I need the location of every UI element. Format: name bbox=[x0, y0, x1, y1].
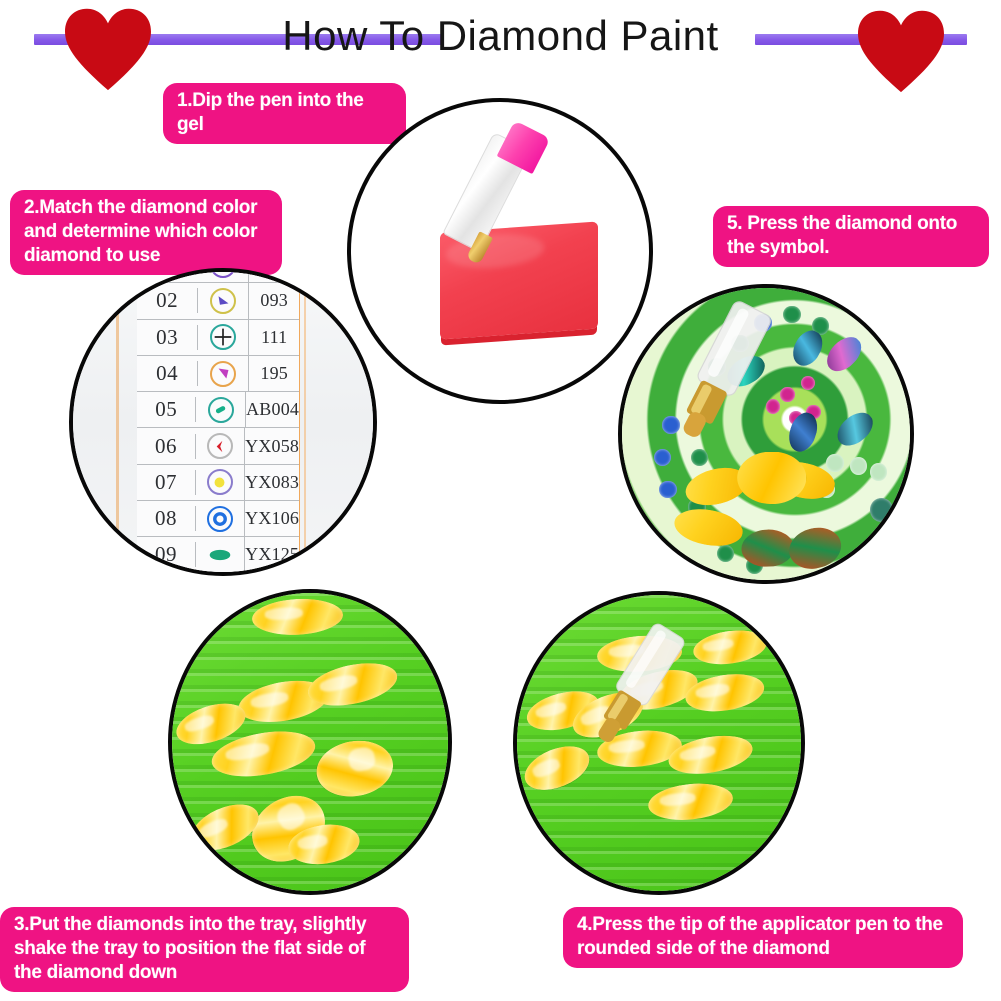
triangle-symbol bbox=[210, 288, 236, 314]
chart-code-cell: 07 bbox=[137, 470, 196, 495]
chart-symbol-cell bbox=[196, 465, 245, 500]
diamonds-in-green-tray-photo bbox=[168, 589, 452, 895]
canvas-rhinestone bbox=[870, 463, 887, 481]
chart-code-cell: 04 bbox=[137, 361, 198, 386]
applicator-pen bbox=[645, 294, 795, 475]
canvas-rhinestone bbox=[826, 454, 843, 472]
page-title: How To Diamond Paint bbox=[0, 12, 1001, 60]
canvas-rhinestone bbox=[801, 376, 815, 391]
color-chart-row: 05AB004 bbox=[137, 392, 299, 428]
yellow-diamond-being-placed bbox=[737, 452, 806, 505]
canvas-rhinestone bbox=[659, 481, 676, 499]
chevron-left-symbol bbox=[207, 433, 233, 459]
chart-symbol-cell bbox=[196, 537, 245, 572]
step-4-label: 4.Press the tip of the applicator pen to… bbox=[563, 907, 963, 968]
color-chart-row: 06YX058 bbox=[137, 428, 299, 464]
filled-circle-symbol bbox=[207, 469, 233, 495]
chart-symbol-cell bbox=[198, 574, 249, 576]
chart-color-name-cell: YX083 bbox=[245, 472, 299, 493]
pen-dipping-into-gel-photo bbox=[347, 98, 653, 404]
chart-code-cell: 02 bbox=[137, 288, 198, 313]
triangle-down-symbol bbox=[210, 361, 236, 387]
capsule-symbol bbox=[208, 397, 234, 423]
chart-color-name-cell: YX125 bbox=[245, 544, 299, 565]
step-3-label: 3.Put the diamonds into the tray, slight… bbox=[0, 907, 409, 992]
chart-margin-stripe bbox=[116, 268, 119, 576]
chart-color-name-cell: AB004 bbox=[246, 399, 299, 420]
chart-color-name-cell: 111 bbox=[249, 327, 299, 348]
chart-code-cell: 03 bbox=[137, 325, 198, 350]
chart-symbol-cell bbox=[198, 356, 249, 391]
color-chart-row: 09YX125 bbox=[137, 537, 299, 573]
step-5-label: 5. Press the diamond onto the symbol. bbox=[713, 206, 989, 267]
chart-color-name-cell: YX106 bbox=[245, 508, 299, 529]
plus-symbol bbox=[210, 324, 236, 350]
chart-symbol-cell bbox=[198, 283, 249, 318]
chart-symbol-cell bbox=[198, 320, 249, 355]
chart-color-name-cell: 195 bbox=[249, 363, 299, 384]
color-chart-row: 07YX083 bbox=[137, 465, 299, 501]
double-dot-symbol bbox=[210, 268, 236, 278]
chart-symbol-cell bbox=[196, 501, 245, 536]
chart-color-name-cell: 093 bbox=[249, 290, 299, 311]
chart-paper: 02802093031110419505AB00406YX05807YX0830… bbox=[69, 268, 377, 576]
color-chart-table: 02802093031110419505AB00406YX05807YX0830… bbox=[137, 268, 299, 576]
chart-code-cell: 05 bbox=[137, 397, 196, 422]
color-chart-row bbox=[137, 574, 299, 576]
color-chart-row: 08YX106 bbox=[137, 501, 299, 537]
chart-margin-stripe bbox=[304, 268, 306, 576]
color-chart-legend-photo: 02802093031110419505AB00406YX05807YX0830… bbox=[69, 268, 377, 576]
chart-code-cell: 06 bbox=[137, 434, 196, 459]
chart-code-cell: 09 bbox=[137, 542, 196, 567]
color-chart-row: 02093 bbox=[137, 283, 299, 319]
chart-code-cell: 08 bbox=[137, 506, 196, 531]
step-2-label: 2.Match the diamond color and determine … bbox=[10, 190, 282, 275]
applicator-pen bbox=[568, 610, 699, 788]
chart-symbol-cell bbox=[198, 268, 249, 282]
placing-diamond-on-canvas-photo bbox=[618, 284, 914, 584]
canvas-rhinestone bbox=[870, 498, 893, 521]
canvas-rhinestone bbox=[850, 457, 867, 475]
leaf-symbol bbox=[207, 542, 233, 568]
pen-picking-up-diamond-photo bbox=[513, 591, 805, 895]
color-chart-row: 04195 bbox=[137, 356, 299, 392]
ring-symbol bbox=[207, 506, 233, 532]
chart-symbol-cell bbox=[196, 428, 245, 463]
infographic-page: How To Diamond Paint 1.Dip the pen into … bbox=[0, 0, 1001, 1001]
color-chart-row: 03111 bbox=[137, 320, 299, 356]
chart-color-name-cell: YX058 bbox=[245, 436, 299, 457]
chart-symbol-cell bbox=[196, 392, 246, 427]
